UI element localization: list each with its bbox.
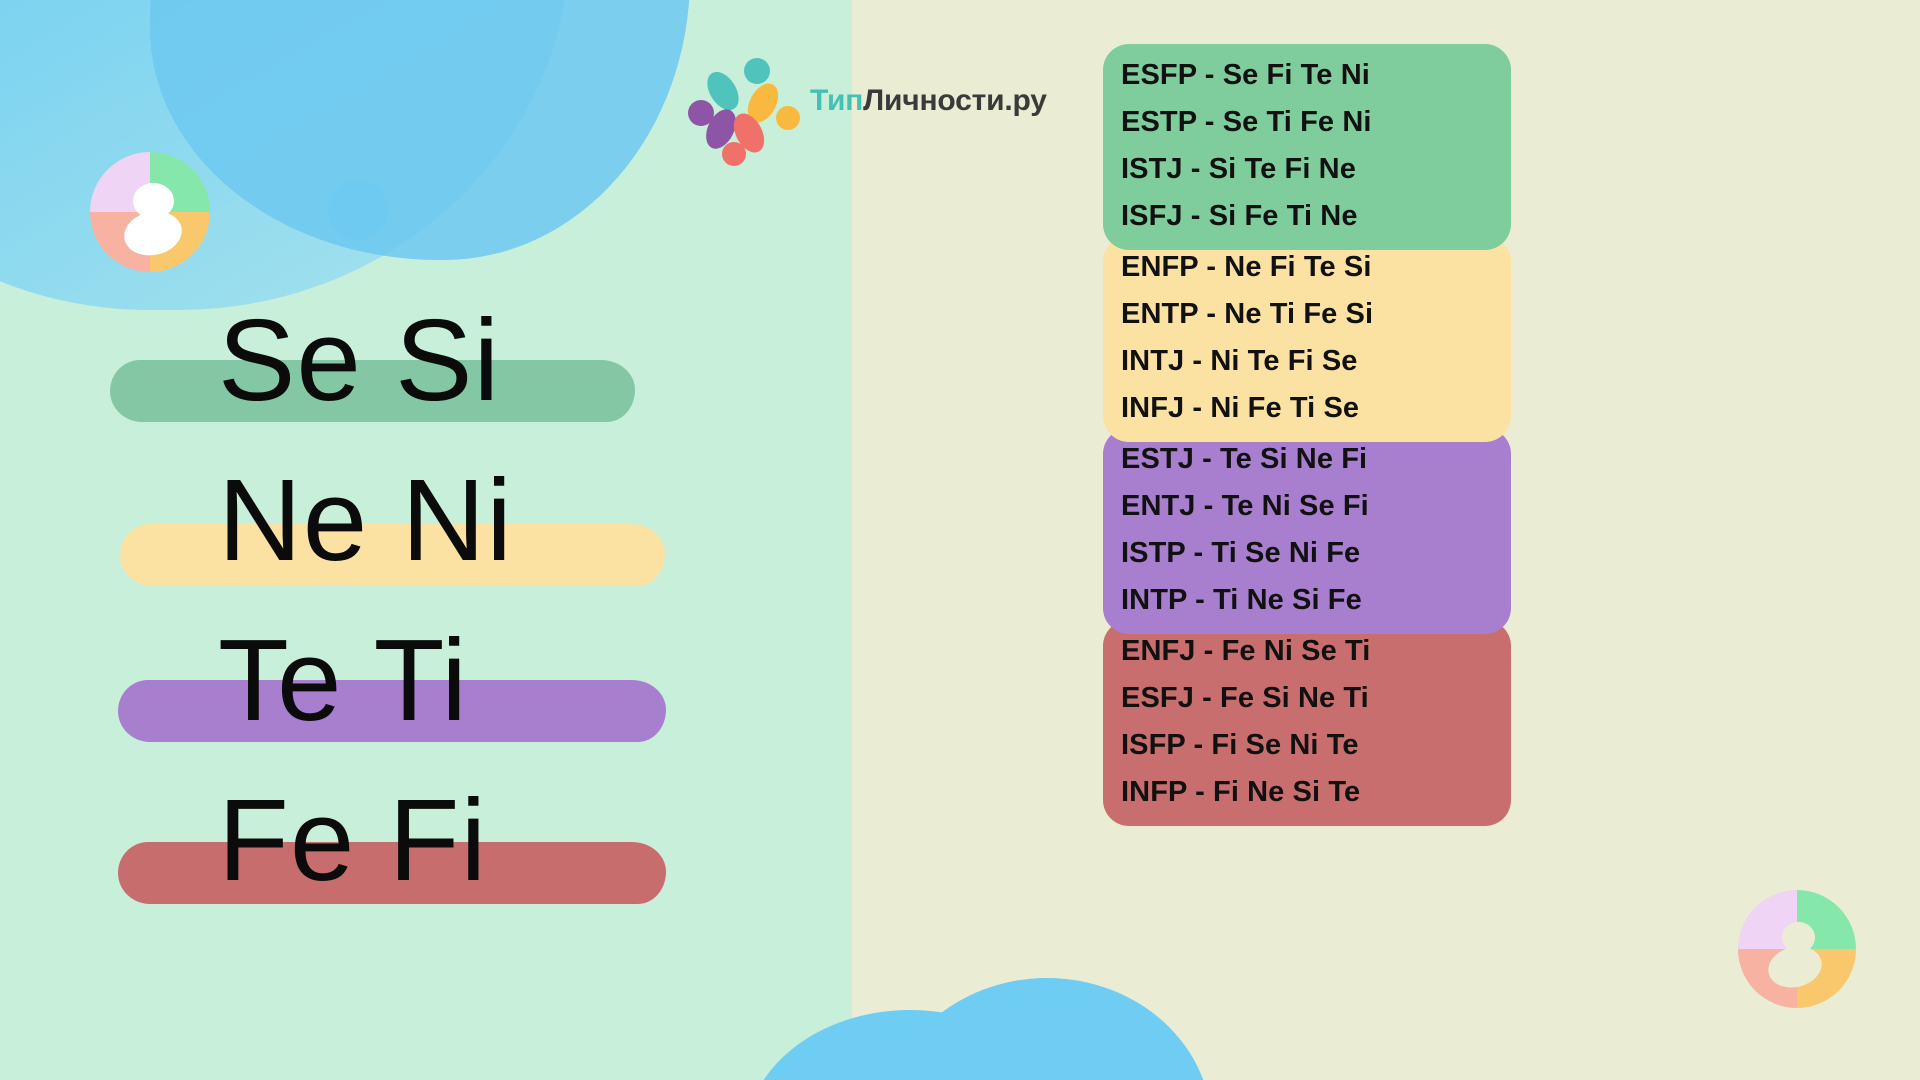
type-row: ISFP - Fi Se Ni Te xyxy=(1121,722,1495,769)
quadrant-circle-icon-top-left xyxy=(90,152,210,272)
logo-dot-0 xyxy=(744,58,770,84)
quadrant-circle-icon-bottom-right xyxy=(1738,890,1856,1008)
logo-word-accent: Тип xyxy=(810,84,863,117)
type-row: INFP - Fi Ne Si Te xyxy=(1121,769,1495,816)
type-groups-list: ESFP - Se Fi Te Ni ESTP - Se Ti Fe Ni IS… xyxy=(1103,44,1511,812)
type-row: ISTP - Ti Se Ni Fe xyxy=(1121,530,1495,577)
function-pair-row: Ne Ni xyxy=(108,460,808,620)
logo-dots-icon xyxy=(688,58,798,144)
type-row: ISTJ - Si Te Fi Ne xyxy=(1121,146,1495,193)
type-row: ESTP - Se Ti Fe Ni xyxy=(1121,99,1495,146)
type-row: INTP - Ti Ne Si Fe xyxy=(1121,577,1495,624)
logo-dot-7 xyxy=(722,142,746,166)
blue-circle-decoration xyxy=(328,180,388,240)
type-row: ENTP - Ne Ti Fe Si xyxy=(1121,291,1495,338)
type-group-card-intuition: ENFP - Ne Fi Te Si ENTP - Ne Ti Fe Si IN… xyxy=(1103,236,1511,442)
infographic-canvas: ТипЛичности.ру Se Si Ne Ni Te Ti Fe Fi E… xyxy=(0,0,1920,1080)
type-group-card-thinking: ESTJ - Te Si Ne Fi ENTJ - Te Ni Se Fi IS… xyxy=(1103,428,1511,634)
type-row: ESFJ - Fe Si Ne Ti xyxy=(1121,675,1495,722)
type-group-card-feeling: ENFJ - Fe Ni Se Ti ESFJ - Fe Si Ne Ti IS… xyxy=(1103,620,1511,826)
function-pair-label: Te Ti xyxy=(218,620,468,742)
logo-word-main: Личности.ру xyxy=(863,84,1047,117)
function-pairs-list: Se Si Ne Ni Te Ti Fe Fi xyxy=(108,300,808,940)
function-pair-row: Fe Fi xyxy=(108,780,808,940)
site-logo[interactable]: ТипЛичности.ру xyxy=(688,58,1047,144)
type-group-card-sensing: ESFP - Se Fi Te Ni ESTP - Se Ti Fe Ni IS… xyxy=(1103,44,1511,250)
logo-dot-3 xyxy=(776,106,800,130)
type-row: ISFJ - Si Fe Ti Ne xyxy=(1121,193,1495,240)
type-row: INTJ - Ni Te Fi Se xyxy=(1121,338,1495,385)
function-pair-label: Ne Ni xyxy=(218,460,513,582)
type-row: ESTJ - Te Si Ne Fi xyxy=(1121,436,1495,483)
type-row: ENFP - Ne Fi Te Si xyxy=(1121,244,1495,291)
type-row: ESFP - Se Fi Te Ni xyxy=(1121,52,1495,99)
function-pair-label: Se Si xyxy=(218,300,500,422)
type-row: ENFJ - Fe Ni Se Ti xyxy=(1121,628,1495,675)
logo-wordmark: ТипЛичности.ру xyxy=(810,86,1047,116)
type-row: ENTJ - Te Ni Se Fi xyxy=(1121,483,1495,530)
function-pair-label: Fe Fi xyxy=(218,780,487,902)
type-row: INFJ - Ni Fe Ti Se xyxy=(1121,385,1495,432)
function-pair-row: Te Ti xyxy=(108,620,808,780)
function-pair-row: Se Si xyxy=(108,300,808,460)
